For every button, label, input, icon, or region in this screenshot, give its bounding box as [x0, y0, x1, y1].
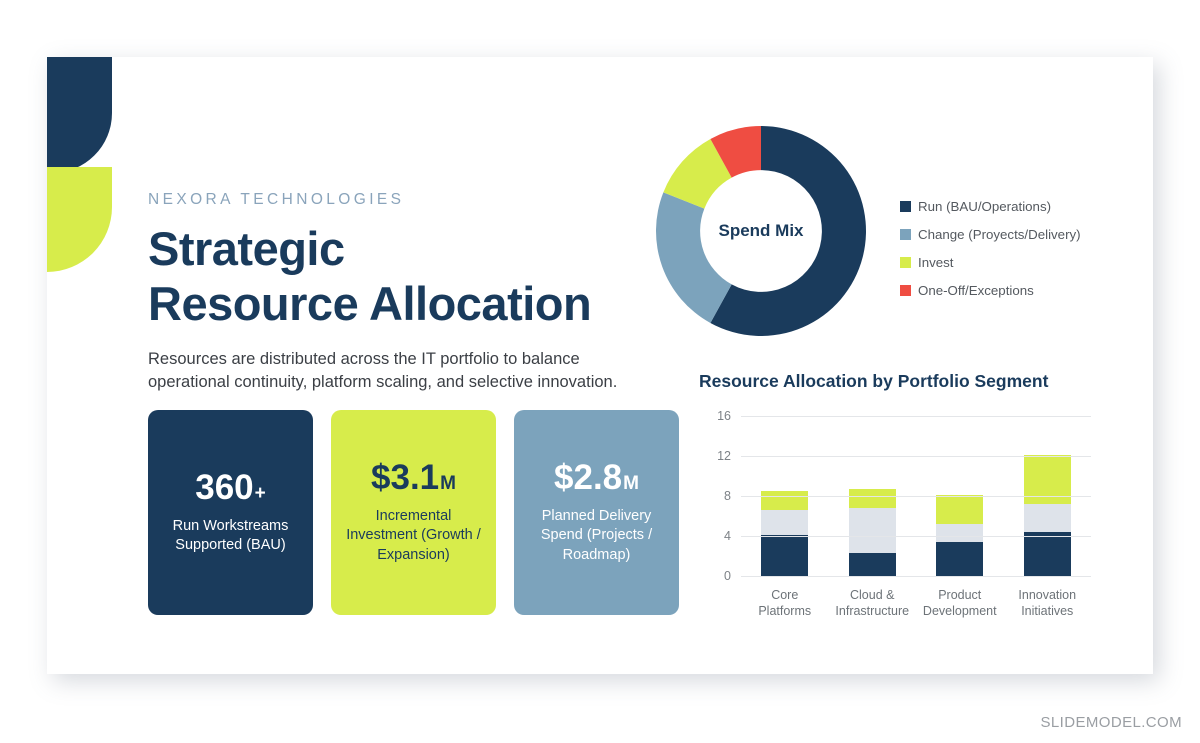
- kpi-suffix: +: [255, 484, 266, 503]
- page-title: Strategic Resource Allocation: [148, 221, 708, 332]
- stacked-bar[interactable]: [761, 491, 808, 577]
- bar-segment: [849, 489, 896, 508]
- donut-legend: Run (BAU/Operations)Change (Proyects/Del…: [900, 199, 1081, 311]
- y-axis-tick-label: 0: [724, 569, 731, 583]
- footer-watermark: SLIDEMODEL.COM: [1041, 714, 1182, 731]
- kpi-card-group: 360+ Run Workstreams Supported (BAU) $3.…: [148, 410, 679, 615]
- subtitle-text: Resources are distributed across the IT …: [148, 348, 628, 395]
- bar-series-group: [741, 417, 1091, 577]
- kpi-card-planned-delivery-spend: $2.8M Planned Delivery Spend (Projects /…: [514, 410, 679, 615]
- bar-chart-x-axis: Core PlatformsCloud & InfrastructureProd…: [741, 587, 1091, 619]
- y-axis-tick-label: 8: [724, 489, 731, 503]
- bar-segment: [761, 510, 808, 535]
- kpi-card-incremental-investment: $3.1M Incremental Investment (Growth / E…: [331, 410, 496, 615]
- stacked-bar[interactable]: [849, 489, 896, 577]
- slide: NEXORA TECHNOLOGIES Strategic Resource A…: [47, 57, 1153, 674]
- bar-slot: [741, 417, 829, 577]
- bar-segment: [849, 508, 896, 553]
- headline-block: NEXORA TECHNOLOGIES Strategic Resource A…: [148, 191, 708, 395]
- donut-center-label: Spend Mix: [718, 221, 803, 241]
- kpi-label: Run Workstreams Supported (BAU): [160, 517, 301, 556]
- kpi-card-run-workstreams: 360+ Run Workstreams Supported (BAU): [148, 410, 313, 615]
- bar-slot: [916, 417, 1004, 577]
- bar-chart-title: Resource Allocation by Portfolio Segment: [699, 371, 1048, 392]
- legend-swatch-icon: [900, 257, 911, 268]
- kpi-suffix: M: [440, 474, 456, 493]
- bar-chart-plot-area: 0481216: [741, 417, 1091, 577]
- gridline: 12: [741, 456, 1091, 457]
- gridline: 4: [741, 536, 1091, 537]
- title-line-2: Resource Allocation: [148, 276, 708, 331]
- legend-label: Invest: [918, 255, 953, 270]
- gridline: 0: [741, 576, 1091, 577]
- kpi-label: Planned Delivery Spend (Projects / Roadm…: [526, 507, 667, 565]
- bar-segment: [761, 491, 808, 510]
- stacked-bar[interactable]: [1024, 455, 1071, 577]
- donut-slice: [656, 192, 732, 323]
- kpi-label: Incremental Investment (Growth / Expansi…: [343, 507, 484, 565]
- bar-segment: [936, 524, 983, 542]
- legend-item[interactable]: Invest: [900, 255, 1081, 270]
- kpi-number: 360: [195, 470, 253, 505]
- bar-segment: [936, 542, 983, 577]
- title-line-1: Strategic: [148, 221, 708, 276]
- decor-navy-shape: [47, 57, 112, 173]
- gridline: 16: [741, 416, 1091, 417]
- bar-segment: [761, 535, 808, 577]
- gridline: 8: [741, 496, 1091, 497]
- kpi-suffix: M: [623, 474, 639, 493]
- legend-label: Change (Proyects/Delivery): [918, 227, 1081, 242]
- legend-swatch-icon: [900, 201, 911, 212]
- bar-segment: [1024, 504, 1071, 532]
- decor-lime-shape: [47, 167, 112, 272]
- kpi-value: $3.1M: [371, 460, 456, 495]
- donut-chart: Spend Mix: [650, 120, 872, 342]
- bar-segment: [849, 553, 896, 577]
- kpi-value: $2.8M: [554, 460, 639, 495]
- kpi-number: $2.8: [554, 460, 622, 495]
- x-axis-tick-label: Product Development: [916, 587, 1004, 619]
- legend-item[interactable]: Run (BAU/Operations): [900, 199, 1081, 214]
- x-axis-tick-label: Innovation Initiatives: [1004, 587, 1092, 619]
- legend-item[interactable]: Change (Proyects/Delivery): [900, 227, 1081, 242]
- y-axis-tick-label: 16: [717, 409, 731, 423]
- bar-segment: [1024, 532, 1071, 577]
- x-axis-tick-label: Core Platforms: [741, 587, 829, 619]
- bar-chart: 0481216 Core PlatformsCloud & Infrastruc…: [699, 407, 1099, 637]
- bar-slot: [829, 417, 917, 577]
- legend-label: One-Off/Exceptions: [918, 283, 1034, 298]
- bar-slot: [1004, 417, 1092, 577]
- kpi-number: $3.1: [371, 460, 439, 495]
- x-axis-tick-label: Cloud & Infrastructure: [829, 587, 917, 619]
- y-axis-tick-label: 4: [724, 529, 731, 543]
- eyebrow-label: NEXORA TECHNOLOGIES: [148, 191, 708, 209]
- slide-canvas: NEXORA TECHNOLOGIES Strategic Resource A…: [0, 0, 1200, 743]
- legend-swatch-icon: [900, 229, 911, 240]
- legend-swatch-icon: [900, 285, 911, 296]
- legend-label: Run (BAU/Operations): [918, 199, 1051, 214]
- bar-segment: [936, 495, 983, 524]
- kpi-value: 360+: [195, 470, 266, 505]
- legend-item[interactable]: One-Off/Exceptions: [900, 283, 1081, 298]
- y-axis-tick-label: 12: [717, 449, 731, 463]
